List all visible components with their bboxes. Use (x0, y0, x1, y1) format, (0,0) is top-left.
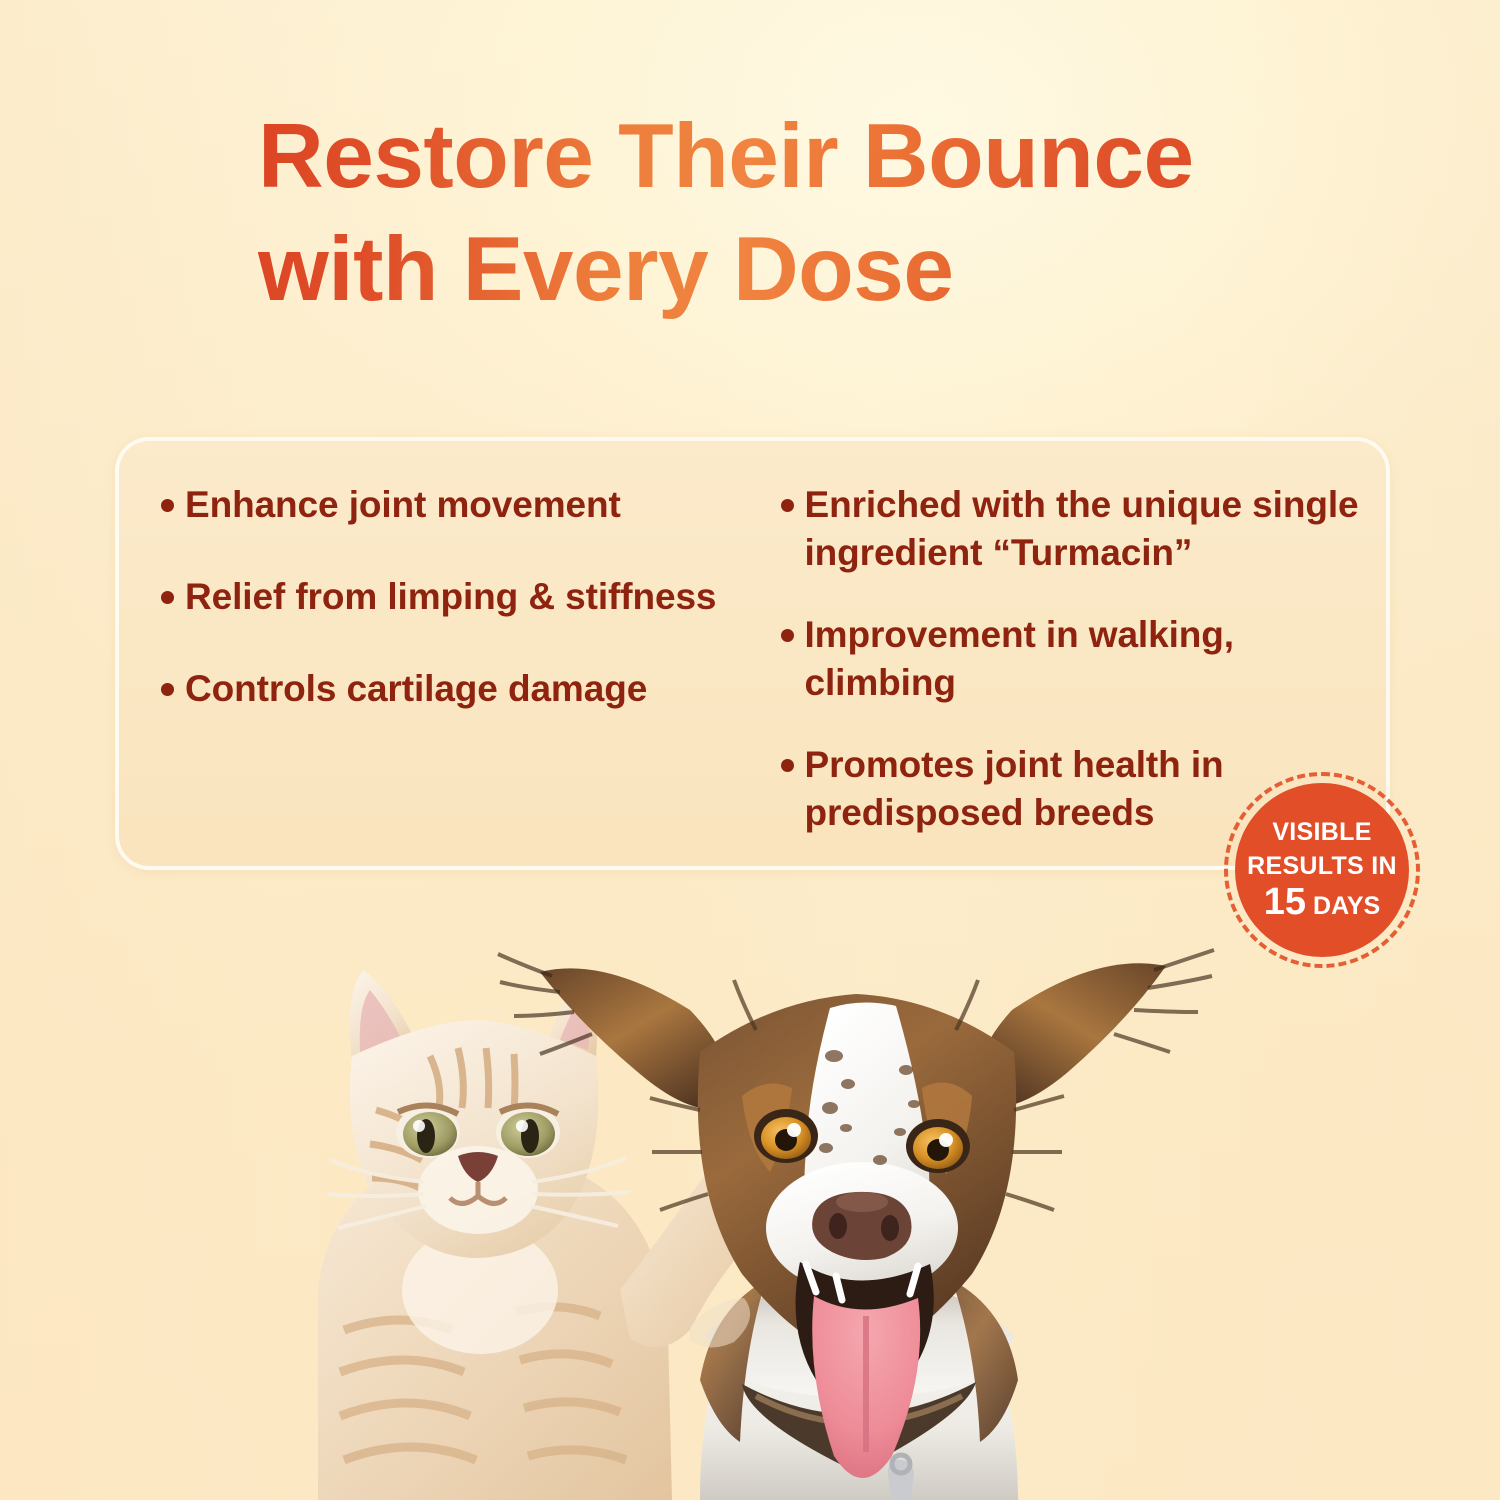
dog-nostril-left (829, 1213, 847, 1239)
bullet-dot-icon (781, 499, 794, 512)
page-title: Restore Their Bounce with Every Dose (258, 100, 1318, 326)
dog-eye-right (906, 1119, 970, 1173)
dog-nostril-right (881, 1215, 899, 1241)
bullet-dot-icon (781, 759, 794, 772)
badge-disc: VISIBLE RESULTS IN 15 DAYS (1235, 783, 1409, 957)
list-item-label: Improvement in walking, climbing (805, 611, 1361, 707)
bullet-dot-icon (161, 683, 174, 696)
list-item: Enhance joint movement (161, 481, 761, 529)
list-item: Controls cartilage damage (161, 665, 761, 713)
bullet-dot-icon (781, 629, 794, 642)
list-item: Improvement in walking, climbing (781, 611, 1361, 707)
benefits-column-left: Enhance joint movement Relief from limpi… (161, 481, 761, 840)
promo-canvas: Restore Their Bounce with Every Dose Enh… (0, 0, 1500, 1500)
list-item-label: Enriched with the unique single ingredie… (805, 481, 1361, 577)
badge-line-1: VISIBLE (1272, 819, 1371, 845)
list-item: Relief from limping & stiffness (161, 573, 761, 621)
dog-eye-left (754, 1109, 818, 1163)
badge-number: 15 (1264, 883, 1306, 921)
badge-unit: DAYS (1313, 894, 1380, 919)
list-item-label: Relief from limping & stiffness (185, 573, 716, 621)
list-item: Enriched with the unique single ingredie… (781, 481, 1361, 577)
bullet-dot-icon (161, 499, 174, 512)
bullet-dot-icon (161, 591, 174, 604)
benefits-card: Enhance joint movement Relief from limpi… (115, 437, 1390, 870)
list-item-label: Controls cartilage damage (185, 665, 647, 713)
badge-line-3: 15 DAYS (1264, 883, 1380, 921)
list-item-label: Enhance joint movement (185, 481, 621, 529)
status-badge: VISIBLE RESULTS IN 15 DAYS (1224, 772, 1420, 968)
badge-line-2: RESULTS IN (1247, 853, 1397, 879)
benefits-columns: Enhance joint movement Relief from limpi… (119, 441, 1386, 866)
dog-nose-highlight (836, 1192, 888, 1212)
